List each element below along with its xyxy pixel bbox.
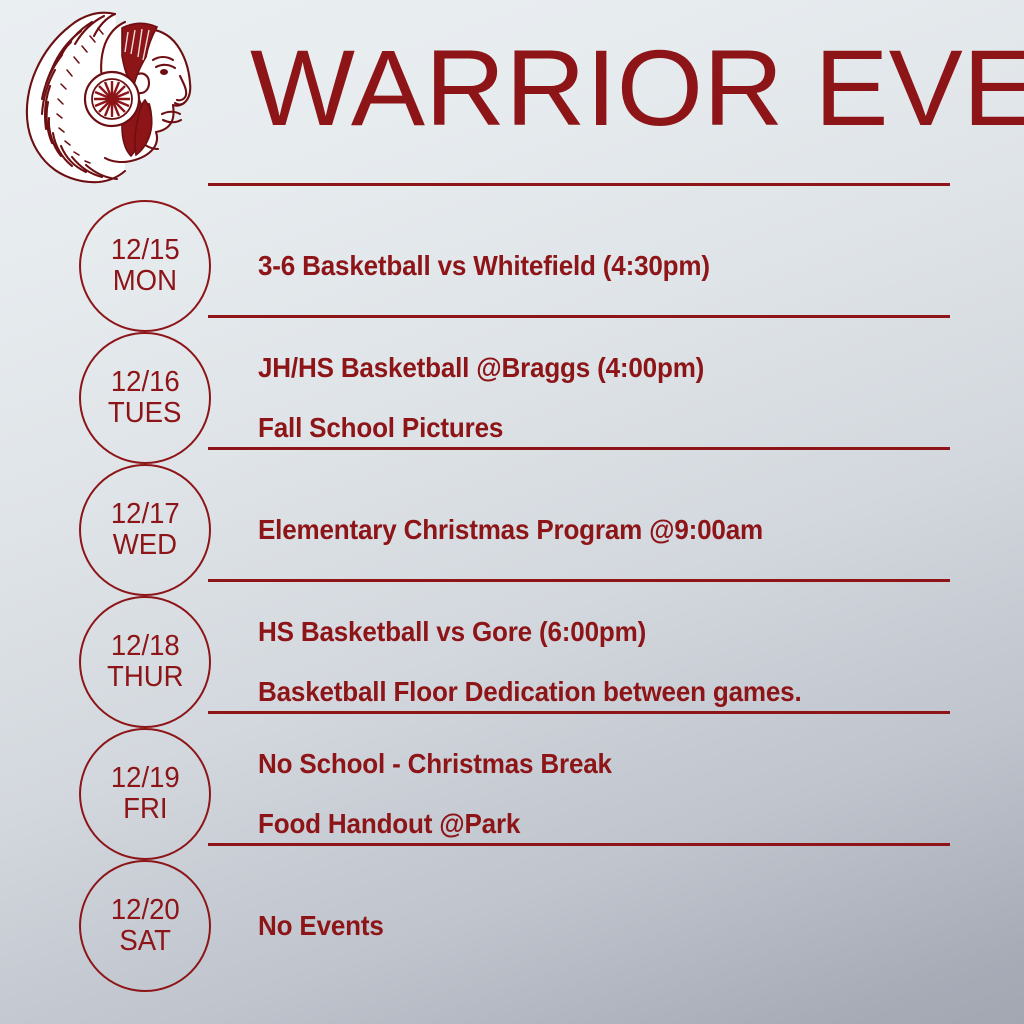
date-badge-date: 12/20: [111, 895, 180, 926]
row-divider: [208, 843, 950, 846]
row-divider: [208, 447, 950, 450]
date-badge-day: THUR: [107, 662, 184, 693]
event-item: No School - Christmas Break: [258, 746, 928, 782]
date-badge: 12/19FRI: [79, 728, 211, 860]
schedule-row: 12/17WEDElementary Christmas Program @9:…: [0, 464, 1024, 596]
schedule-row: 12/18THURHS Basketball vs Gore (6:00pm)B…: [0, 596, 1024, 728]
warrior-events-poster: WARRIOR EVENTS 12/15MON3-6 Basketball vs…: [0, 0, 1024, 1024]
schedule-row: 12/20SATNo Events: [0, 860, 1024, 992]
event-item: 3-6 Basketball vs Whitefield (4:30pm): [258, 248, 928, 284]
event-item: Basketball Floor Dedication between game…: [258, 674, 928, 710]
date-badge-day: FRI: [123, 794, 167, 825]
date-badge-day: TUES: [108, 398, 181, 429]
event-list: Elementary Christmas Program @9:00am: [258, 512, 978, 548]
date-badge-day: WED: [113, 530, 177, 561]
event-item: JH/HS Basketball @Braggs (4:00pm): [258, 350, 928, 386]
row-divider: [208, 579, 950, 582]
event-item: Elementary Christmas Program @9:00am: [258, 512, 928, 548]
event-list: JH/HS Basketball @Braggs (4:00pm)Fall Sc…: [258, 350, 978, 446]
warrior-chief-head-logo: [12, 4, 212, 190]
date-badge: 12/15MON: [79, 200, 211, 332]
event-list: No School - Christmas BreakFood Handout …: [258, 746, 978, 842]
event-item: HS Basketball vs Gore (6:00pm): [258, 614, 928, 650]
event-list: No Events: [258, 908, 978, 944]
date-badge-date: 12/16: [111, 367, 180, 398]
date-badge: 12/18THUR: [79, 596, 211, 728]
row-divider: [208, 711, 950, 714]
page-title: WARRIOR EVENTS: [250, 32, 1002, 144]
date-badge-day: MON: [113, 266, 177, 297]
date-badge-date: 12/15: [111, 235, 180, 266]
date-badge-date: 12/19: [111, 763, 180, 794]
event-item: No Events: [258, 908, 928, 944]
date-badge: 12/16TUES: [79, 332, 211, 464]
date-badge-date: 12/17: [111, 499, 180, 530]
schedule-row: 12/16TUESJH/HS Basketball @Braggs (4:00p…: [0, 332, 1024, 464]
event-list: 3-6 Basketball vs Whitefield (4:30pm): [258, 248, 978, 284]
poster-header: WARRIOR EVENTS: [0, 0, 1024, 190]
event-list: HS Basketball vs Gore (6:00pm)Basketball…: [258, 614, 978, 710]
row-divider: [208, 183, 950, 186]
event-item: Food Handout @Park: [258, 806, 928, 842]
schedule-row: 12/15MON3-6 Basketball vs Whitefield (4:…: [0, 200, 1024, 332]
date-badge: 12/17WED: [79, 464, 211, 596]
event-item: Fall School Pictures: [258, 410, 928, 446]
date-badge-date: 12/18: [111, 631, 180, 662]
row-divider: [208, 315, 950, 318]
schedule-row: 12/19FRINo School - Christmas BreakFood …: [0, 728, 1024, 860]
date-badge-day: SAT: [119, 926, 171, 957]
date-badge: 12/20SAT: [79, 860, 211, 992]
